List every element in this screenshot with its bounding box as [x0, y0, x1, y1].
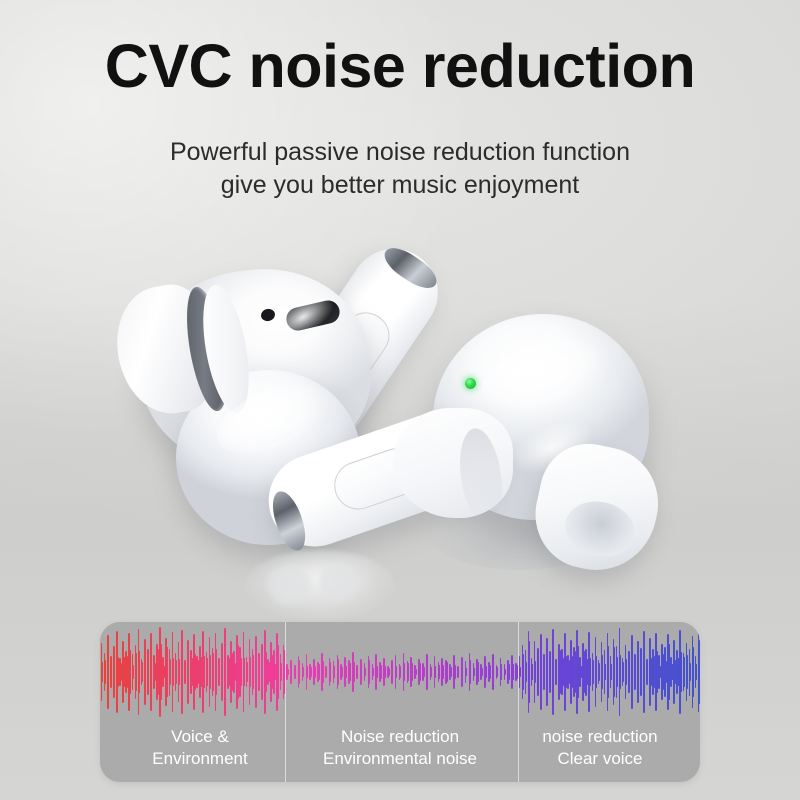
waveform-bar [501, 664, 502, 680]
waveform-bar [299, 660, 300, 684]
waveform-bar [384, 666, 385, 679]
waveform-bar [611, 664, 612, 679]
waveform-bar [687, 655, 688, 689]
waveform-bar [361, 664, 362, 680]
waveform-bar [353, 662, 354, 682]
waveform-bar [373, 668, 374, 676]
waveform-bar [350, 663, 351, 680]
waveform-bar [462, 664, 463, 680]
waveform-bar [690, 663, 691, 681]
waveform-bar [139, 651, 140, 694]
waveform-bar [102, 662, 103, 682]
waveform-bar [338, 659, 339, 686]
waveform-bar [357, 667, 358, 678]
label-line-1: noise reduction [500, 726, 700, 748]
subtitle-line-1: Powerful passive noise reduction functio… [0, 136, 800, 169]
waveform-label-clear-voice: noise reduction Clear voice [500, 718, 700, 782]
waveform-bar [526, 662, 527, 681]
waveform-bar [400, 666, 401, 677]
waveform-bar [381, 665, 382, 678]
waveform-bar [497, 667, 498, 677]
waveform-bar [287, 669, 288, 675]
page-title: CVC noise reduction [0, 34, 800, 98]
waveform-bar [602, 655, 603, 689]
marketing-banner: CVC noise reduction Powerful passive noi… [0, 0, 800, 800]
waveform-bar [291, 664, 292, 680]
waveform-bar [454, 665, 455, 679]
waveform-bar [509, 664, 510, 681]
waveform-bar [216, 649, 217, 695]
waveform-bar [377, 666, 378, 678]
label-line-2: Clear voice [500, 748, 700, 770]
waveform-bar [307, 666, 308, 679]
waveform-bar [204, 656, 205, 688]
waveform-bar [167, 647, 168, 696]
waveform-bar [458, 668, 459, 676]
waveform-bar [176, 660, 177, 684]
waveform-bar [478, 662, 479, 682]
waveform-bar [614, 647, 615, 698]
waveform-bar [523, 654, 524, 689]
waveform-bar [133, 665, 134, 679]
waveform-bar [213, 653, 214, 692]
waveform-bar [281, 663, 282, 681]
waveform-bar [419, 663, 420, 681]
waveform-bar [593, 660, 594, 684]
waveform-bar [693, 647, 694, 696]
waveform-bar [210, 655, 211, 689]
waveform-bar [326, 670, 327, 674]
waveform-bar [207, 658, 208, 685]
waveform-bar [365, 668, 366, 676]
left-earbud-stem-contact-band [379, 241, 442, 294]
waveform-bar [596, 656, 597, 687]
waveform-bar [278, 645, 279, 699]
waveform-bar [599, 663, 600, 681]
waveform-bar [396, 666, 397, 678]
waveform-bar [493, 664, 494, 681]
waveform-bar [505, 669, 506, 675]
waveform-bar [408, 663, 409, 680]
waveform-bar [295, 669, 296, 675]
waveform-bar [474, 668, 475, 676]
waveform-bar [342, 667, 343, 677]
waveform-bar [247, 662, 248, 681]
waveform-comparison-panel: Voice & Environment Noise reduction Envi… [100, 622, 700, 782]
waveform-bar [605, 664, 606, 680]
waveform-bar [388, 668, 389, 676]
waveform-bar [451, 667, 452, 678]
waveform-bar [529, 641, 530, 703]
waveform-bar [130, 650, 131, 695]
waveform-bar [696, 664, 697, 680]
label-line-2: Environment [100, 748, 300, 770]
waveform-label-voice-environment: Voice & Environment [100, 718, 300, 782]
waveform-bar [482, 668, 483, 676]
waveform-bar [315, 666, 316, 678]
waveform-bar [416, 669, 417, 674]
waveform-bar [179, 659, 180, 686]
waveform-bar [250, 657, 251, 687]
subtitle-line-2: give you better music enjoyment [0, 169, 800, 202]
waveform-bar [136, 653, 137, 691]
waveform-bar [513, 664, 514, 681]
waveform-bar [447, 662, 448, 682]
waveform-section-labels: Voice & Environment Noise reduction Envi… [100, 718, 700, 782]
waveform-bar [322, 661, 323, 683]
waveform-bar [520, 667, 521, 678]
waveform-bar [173, 658, 174, 685]
waveform-bar [253, 655, 254, 689]
waveform-bar [699, 640, 700, 704]
waveform-bar [412, 663, 413, 680]
waveform-bar [423, 667, 424, 676]
waveform-bar [617, 657, 618, 687]
waveform-bar [684, 657, 685, 686]
waveform-bar [431, 667, 432, 676]
waveform-label-environmental-noise: Noise reduction Environmental noise [300, 718, 500, 782]
waveform-bar [392, 665, 393, 679]
waveform-bar [404, 663, 405, 681]
waveform-bar [427, 658, 428, 686]
waveform-bar [311, 667, 312, 677]
right-earbud-stem-contact-band [267, 487, 312, 554]
waveform-bar [466, 668, 467, 676]
waveform-bar [244, 658, 245, 685]
waveform-bar [303, 667, 304, 677]
waveform-canvas [100, 622, 700, 722]
waveform-bar [485, 666, 486, 678]
product-photo [0, 215, 800, 615]
waveform-bar [439, 665, 440, 680]
page-subtitle: Powerful passive noise reduction functio… [0, 136, 800, 202]
waveform-bar [620, 655, 621, 689]
surface-reflection-spot-2 [318, 563, 358, 601]
waveform-bar [330, 662, 331, 681]
waveform-bar [142, 662, 143, 683]
surface-reflection-spot-1 [268, 565, 312, 605]
waveform-bar [318, 664, 319, 680]
status-led-indicator [465, 378, 476, 389]
waveform-bar [590, 658, 591, 685]
waveform-bar [608, 646, 609, 697]
waveform-bar [105, 660, 106, 684]
waveform-bar [443, 665, 444, 679]
label-line-1: Voice & [100, 726, 300, 748]
label-line-2: Environmental noise [300, 748, 500, 770]
waveform-bar [170, 659, 171, 684]
waveform-bar [369, 660, 370, 683]
waveform-bar [489, 665, 490, 679]
waveform-bar [334, 666, 335, 677]
waveform-bar [681, 652, 682, 692]
waveform-bar [346, 666, 347, 678]
waveform-bar [470, 660, 471, 684]
waveform-bar [435, 666, 436, 679]
waveform-bar [241, 658, 242, 685]
label-line-1: Noise reduction [300, 726, 500, 748]
